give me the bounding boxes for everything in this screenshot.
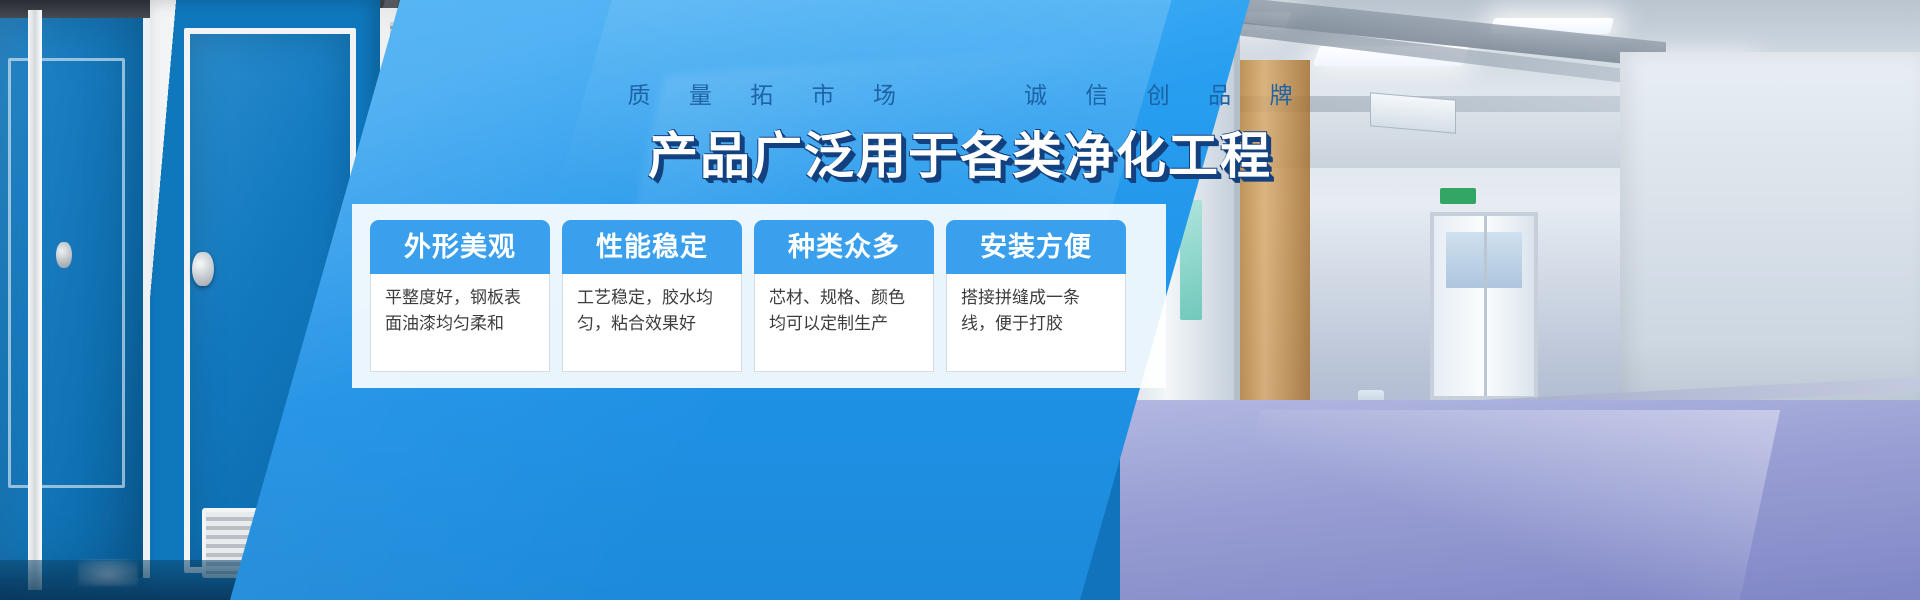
feature-card-title: 外形美观 bbox=[370, 220, 550, 274]
promo-banner: 质 量 拓 市 场 诚 信 创 品 牌 产品广泛用于各类净化工程 外形美观 平整… bbox=[0, 0, 1920, 600]
feature-card-panel: 外形美观 平整度好，钢板表面油漆均匀柔和 性能稳定 工艺稳定，胶水均匀，粘合效果… bbox=[352, 204, 1166, 388]
floor-reflection bbox=[1220, 410, 1780, 600]
feature-card-title: 性能稳定 bbox=[562, 220, 742, 274]
feature-card-title: 种类众多 bbox=[754, 220, 934, 274]
door-handle-b bbox=[192, 252, 214, 286]
banner-tagline: 质 量 拓 市 场 诚 信 创 品 牌 bbox=[0, 76, 1920, 110]
feature-card[interactable]: 安装方便 搭接拼缝成一条线，便于打胶 bbox=[946, 220, 1126, 372]
corridor-double-door bbox=[1430, 212, 1538, 400]
feature-card-text: 芯材、规格、颜色均可以定制生产 bbox=[754, 274, 934, 372]
feature-card-text: 搭接拼缝成一条线，便于打胶 bbox=[946, 274, 1126, 372]
door-handle-a bbox=[56, 242, 72, 268]
banner-headline: 产品广泛用于各类净化工程 bbox=[0, 116, 1920, 188]
feature-card[interactable]: 性能稳定 工艺稳定，胶水均匀，粘合效果好 bbox=[562, 220, 742, 372]
feature-card-title: 安装方便 bbox=[946, 220, 1126, 274]
feature-card-text: 平整度好，钢板表面油漆均匀柔和 bbox=[370, 274, 550, 372]
feature-card-text: 工艺稳定，胶水均匀，粘合效果好 bbox=[562, 274, 742, 372]
exit-sign-icon bbox=[1440, 188, 1476, 204]
feature-card[interactable]: 外形美观 平整度好，钢板表面油漆均匀柔和 bbox=[370, 220, 550, 372]
feature-card[interactable]: 种类众多 芯材、规格、颜色均可以定制生产 bbox=[754, 220, 934, 372]
